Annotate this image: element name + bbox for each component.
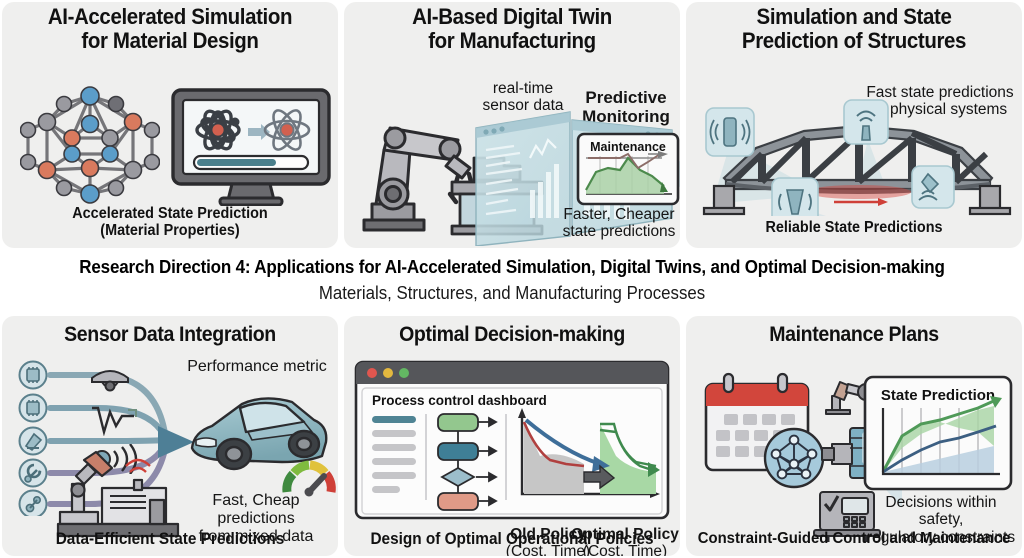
panel-maintenance-plans: Maintenance Plans: [686, 316, 1022, 556]
research-direction-title: Research Direction 4: Applications for A…: [44, 256, 981, 278]
maintenance-chart-icon: Maintenance: [576, 132, 680, 206]
chip-icon: [27, 367, 39, 383]
note-faster-cheaper: Faster, Cheaper state predictions: [558, 206, 680, 241]
dashboard-window[interactable]: Process control dashboard: [354, 360, 670, 520]
panel-sensor-data-integration: Sensor Data Integration Performance metr…: [2, 316, 338, 556]
chip-icon: [27, 400, 39, 416]
panel-caption: Design of Optimal Operational Policies: [356, 530, 668, 548]
waveform-icon: [88, 404, 140, 436]
wifi-sensor-icon: [844, 100, 888, 144]
sensor-box-icon: [706, 108, 754, 156]
panel-title: Simulation and State Prediction of Struc…: [698, 5, 1010, 52]
progress-bar: [194, 156, 308, 169]
deflection-arrow-icon: [834, 198, 888, 206]
panel-simulation-state-prediction: Simulation and State Prediction of Struc…: [686, 2, 1022, 248]
panel-title: AI-Based Digital Twin for Manufacturing: [356, 5, 668, 52]
panel-caption: Constraint-Guided Control and Maintenanc…: [698, 530, 1010, 548]
dashboard-title: Process control dashboard: [372, 393, 547, 408]
panel-title: AI-Accelerated Simulation for Material D…: [14, 5, 326, 52]
panel-caption: Reliable State Predictions: [698, 219, 1010, 236]
state-prediction-title: State Prediction: [881, 387, 995, 404]
robot-machine-icon: [54, 446, 188, 538]
camera-icon: [88, 364, 132, 398]
panel-optimal-decision-making: Optimal Decision-making Process control …: [344, 316, 680, 556]
panel-ai-accelerated-simulation: AI-Accelerated Simulation for Material D…: [2, 2, 338, 248]
window-dot-green: [399, 368, 409, 378]
note-performance-metric: Performance metric: [178, 358, 336, 376]
tilt-sensor-box-icon: [912, 166, 954, 208]
window-dot-red: [367, 368, 377, 378]
window-dot-yellow: [383, 368, 393, 378]
panel-title: Maintenance Plans: [698, 324, 1010, 346]
acoustic-sensor-box-icon: [772, 178, 818, 216]
truss-bridge-icon: [694, 96, 1018, 216]
wifi-icon: [126, 460, 150, 472]
research-direction-subtitle: Materials, Structures, and Manufacturing…: [44, 282, 981, 304]
panel-caption: Data-Efficient State Predictions: [14, 530, 326, 548]
panel-ai-based-digital-twin: AI-Based Digital Twin for Manufacturing …: [344, 2, 680, 248]
molecule-graph-icon: [20, 84, 160, 206]
panel-caption: Accelerated State Prediction (Material P…: [14, 205, 326, 239]
network-graph-icon: [762, 426, 826, 490]
maintenance-chart-title: Maintenance: [590, 140, 666, 154]
research-direction-band: Research Direction 4: Applications for A…: [0, 252, 1024, 314]
monitor-icon: [170, 88, 332, 206]
state-prediction-chart-icon: State Prediction: [862, 374, 1014, 492]
panel-title: Optimal Decision-making: [356, 324, 668, 346]
panel-title: Sensor Data Integration: [14, 324, 326, 346]
infographic-root: AI-Accelerated Simulation for Material D…: [0, 0, 1024, 558]
